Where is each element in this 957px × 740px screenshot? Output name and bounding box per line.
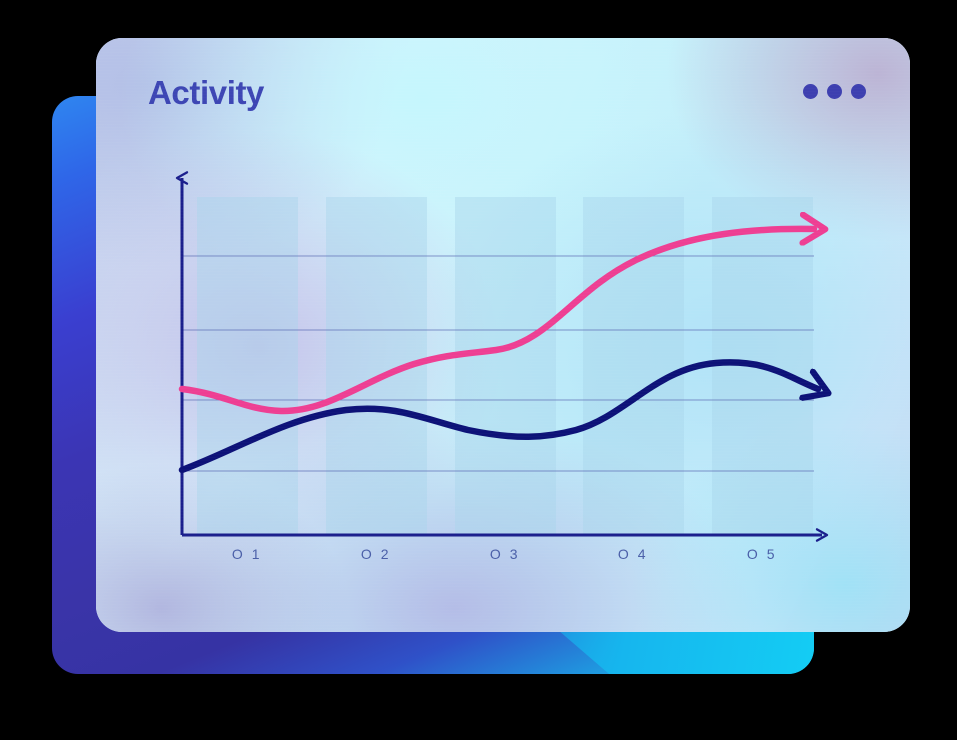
- activity-card: Activity: [96, 38, 910, 632]
- x-tick-label: O 3: [490, 546, 520, 562]
- x-tick-label: O 5: [747, 546, 777, 562]
- chart-column-bands: [197, 197, 813, 535]
- chart-svg: O 1 O 2 O 3 O 4 O 5: [96, 38, 910, 632]
- x-tick-label: O 1: [232, 546, 262, 562]
- screenshot-stage: Activity: [0, 0, 957, 740]
- x-tick-label: O 4: [618, 546, 648, 562]
- column-band: [197, 197, 298, 535]
- x-tick-label: O 2: [361, 546, 391, 562]
- chart-x-tick-labels: O 1 O 2 O 3 O 4 O 5: [232, 546, 777, 562]
- activity-chart: O 1 O 2 O 3 O 4 O 5: [96, 38, 910, 632]
- column-band: [455, 197, 556, 535]
